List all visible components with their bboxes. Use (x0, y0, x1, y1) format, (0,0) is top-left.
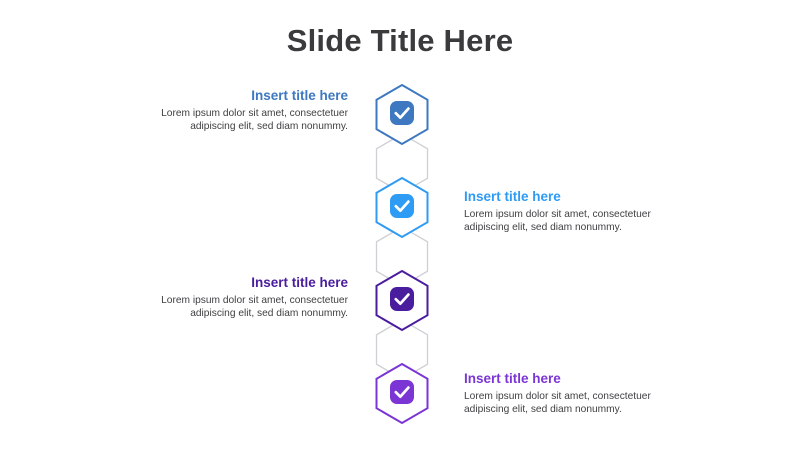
check-badge-icon (390, 380, 414, 404)
check-badge-icon (390, 287, 414, 311)
slide-canvas: Slide Title Here (0, 0, 800, 450)
step-text-block-1: Insert title here Lorem ipsum dolor sit … (136, 88, 348, 133)
step-title-1: Insert title here (136, 88, 348, 104)
page-title: Slide Title Here (0, 22, 800, 60)
check-badge-icon (390, 194, 414, 218)
step-body-4: Lorem ipsum dolor sit amet, consectetuer… (464, 390, 676, 416)
step-text-block-3: Insert title here Lorem ipsum dolor sit … (136, 275, 348, 320)
hexagon-node-3[interactable] (377, 271, 428, 330)
hexagon-spacer-1 (377, 134, 428, 193)
step-title-3: Insert title here (136, 275, 348, 291)
hexagon-chain (0, 0, 800, 450)
step-title-2: Insert title here (464, 189, 676, 205)
check-badge-icon (390, 101, 414, 125)
hexagon-node-1[interactable] (377, 85, 428, 144)
step-title-4: Insert title here (464, 371, 676, 387)
step-text-block-2: Insert title here Lorem ipsum dolor sit … (464, 189, 676, 234)
hexagon-node-4[interactable] (377, 364, 428, 423)
hexagon-spacer-3 (377, 320, 428, 379)
hexagon-node-2[interactable] (377, 178, 428, 237)
step-body-3: Lorem ipsum dolor sit amet, consectetuer… (136, 294, 348, 320)
step-body-1: Lorem ipsum dolor sit amet, consectetuer… (136, 107, 348, 133)
step-body-2: Lorem ipsum dolor sit amet, consectetuer… (464, 208, 676, 234)
step-text-block-4: Insert title here Lorem ipsum dolor sit … (464, 371, 676, 416)
hexagon-spacer-2 (377, 227, 428, 286)
